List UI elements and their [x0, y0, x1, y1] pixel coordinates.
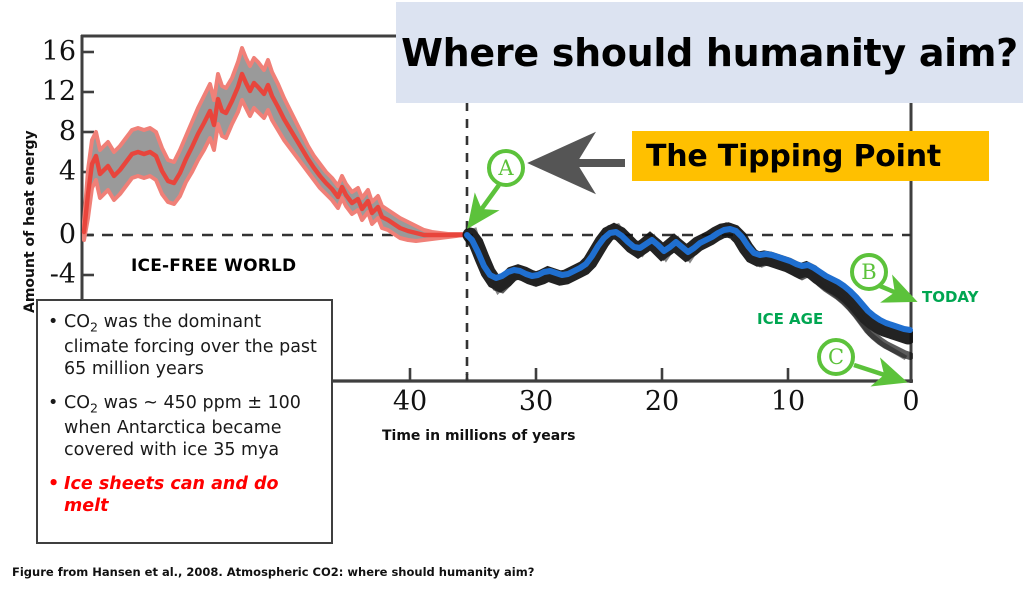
- today-label: TODAY: [922, 288, 978, 306]
- bullet-3-rest: Ice sheets can and do melt: [64, 474, 279, 517]
- marker-a-letter: A: [491, 156, 521, 180]
- y-axis-title: Amount of heat energy: [22, 133, 38, 313]
- x-tick-0: 0: [886, 386, 936, 417]
- bullet-glyph: •: [48, 473, 59, 496]
- marker-b-letter: B: [854, 260, 884, 284]
- bullet-glyph: •: [48, 392, 58, 415]
- marker-b-arrow: [880, 286, 913, 300]
- tipping-point-callout: The Tipping Point: [632, 131, 989, 181]
- slide-canvas: 16 12 8 4 0 -4 40 30 20 10 0 Time in mil…: [0, 0, 1023, 601]
- list-item-emphasis: • Ice sheets can and do melt: [46, 473, 323, 518]
- glaciated-noise-band: [470, 225, 910, 358]
- ice-age-label: ICE AGE: [757, 310, 823, 328]
- bullet-1-prefix: CO: [64, 312, 90, 332]
- notes-list: • CO2 was the dominant climate forcing o…: [46, 311, 323, 518]
- bullet-2-subscript: 2: [90, 400, 98, 415]
- x-tick-10: 10: [763, 386, 813, 417]
- y-tick-8: 8: [38, 116, 76, 147]
- marker-c-letter: C: [821, 345, 851, 369]
- y-tick-12: 12: [38, 76, 76, 107]
- x-tick-20: 20: [637, 386, 687, 417]
- notes-box: • CO2 was the dominant climate forcing o…: [36, 299, 333, 544]
- x-tick-40: 40: [385, 386, 435, 417]
- y-tick-0: 0: [38, 219, 76, 250]
- bullet-2-rest: was ~ 450 ppm ± 100 when Antarctica beca…: [64, 393, 301, 460]
- x-axis-title: Time in millions of years: [382, 428, 575, 444]
- bullet-glyph: •: [48, 311, 58, 334]
- bullet-2-prefix: CO: [64, 393, 90, 413]
- list-item: • CO2 was ~ 450 ppm ± 100 when Antarctic…: [46, 392, 323, 462]
- bullet-1-rest: was the dominant climate forcing over th…: [64, 312, 317, 379]
- list-item: • CO2 was the dominant climate forcing o…: [46, 311, 323, 381]
- ice-free-world-label: ICE-FREE WORLD: [131, 256, 296, 276]
- y-tick-16: 16: [38, 36, 76, 67]
- x-tick-30: 30: [511, 386, 561, 417]
- marker-c-arrow: [854, 365, 903, 381]
- figure-caption: Figure from Hansen et al., 2008. Atmosph…: [12, 565, 534, 579]
- tipping-point-label: The Tipping Point: [646, 139, 941, 174]
- y-tick-4: 4: [38, 156, 76, 187]
- page-title: Where should humanity aim?: [401, 31, 1018, 75]
- marker-a-arrow: [470, 185, 499, 225]
- bullet-1-subscript: 2: [90, 320, 98, 335]
- title-banner: Where should humanity aim?: [396, 2, 1023, 103]
